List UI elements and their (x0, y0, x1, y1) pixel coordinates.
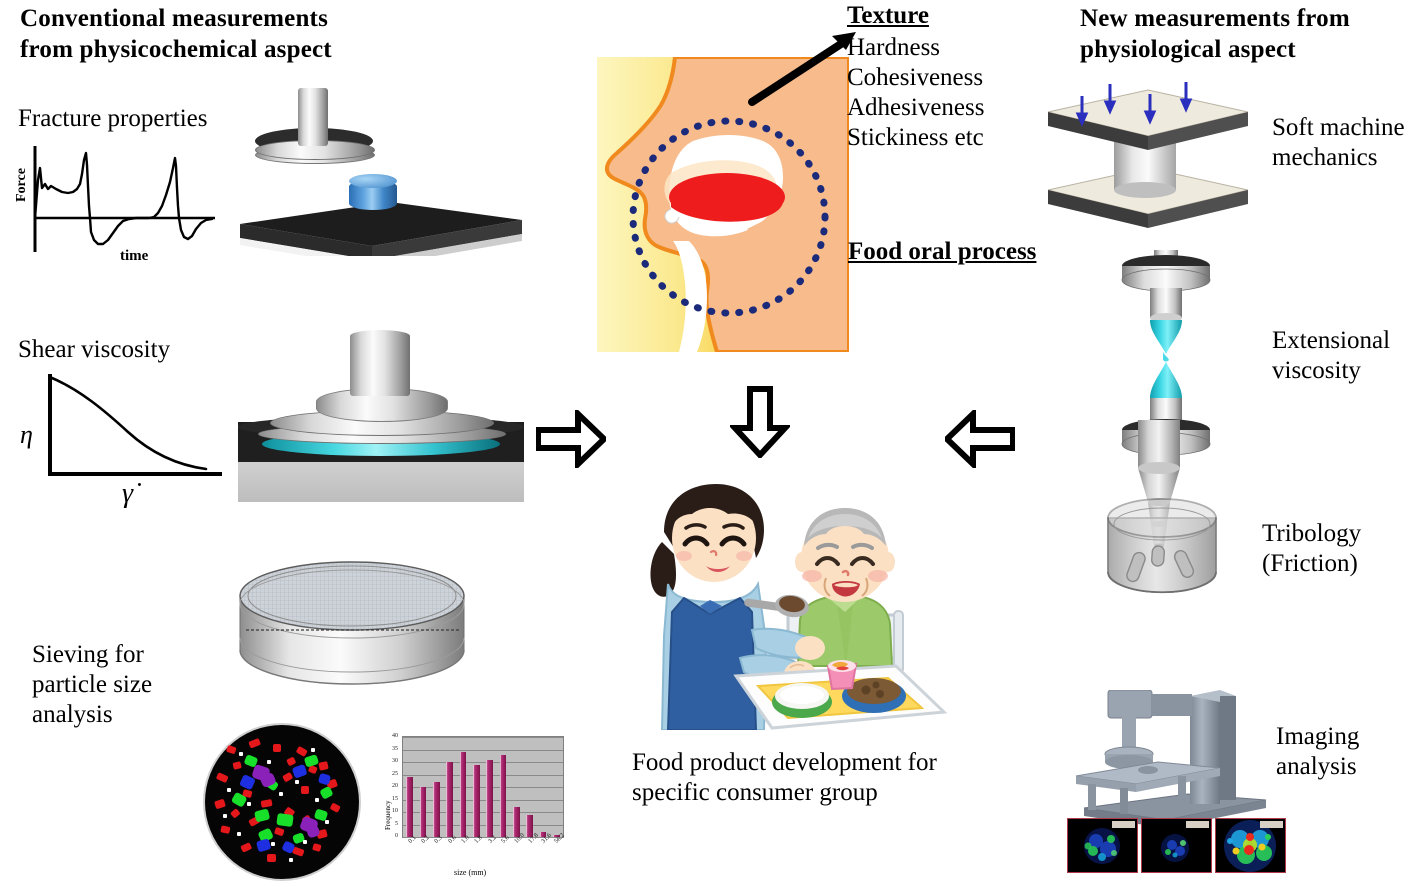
texture-attribute-item: Stickiness etc (847, 123, 984, 153)
bar-chart-bar (473, 765, 480, 838)
fracture-chart-xlabel: time (120, 248, 148, 265)
right-column-title: New measurements from physiological aspe… (1080, 4, 1410, 65)
fracture-curve (10, 140, 225, 265)
bar-chart-ytick: 35 (384, 746, 398, 752)
bar-chart-bar (406, 777, 413, 837)
test-sieve-apparatus (232, 552, 472, 702)
imaging-microscope-apparatus (1060, 690, 1290, 830)
arrow-down-icon (730, 386, 790, 458)
shear-chart-xlabel: γ̇ (122, 478, 133, 510)
bar-chart-bar (460, 752, 467, 837)
caregiver-feeding-illustration (640, 480, 960, 730)
fracture-properties-label: Fracture properties (18, 104, 208, 134)
bar-chart-bar (446, 762, 453, 837)
texture-analyzer-apparatus (232, 88, 532, 268)
shear-viscosity-chart: η γ̇ (10, 370, 225, 520)
food-oral-process-heading: Food oral process (848, 238, 1036, 266)
bar-chart-ytick: 5 (384, 821, 398, 827)
imaging-heatmap-thumbnails (1067, 818, 1282, 874)
heatmap-thumbnail (1141, 818, 1212, 873)
arrow-right-icon (536, 410, 606, 468)
particle-dish-image (197, 722, 367, 882)
bar-chart-gridline (403, 825, 563, 826)
tribology-label: Tribology (Friction) (1262, 519, 1412, 579)
fracture-properties-chart: Force time (10, 140, 225, 265)
heatmap-thumbnail (1215, 818, 1286, 873)
sieving-label: Sieving for particle size analysis (32, 640, 202, 730)
bar-chart-gridline (403, 762, 563, 763)
imaging-analysis-label: Imaging analysis (1276, 722, 1406, 782)
bar-chart-ytick: 25 (384, 771, 398, 777)
extensional-viscosity-label: Extensional viscosity (1272, 326, 1412, 386)
bar-chart-plot (402, 736, 564, 838)
texture-attribute-item: Cohesiveness (847, 63, 984, 93)
left-column-title: Conventional measurements from physicoch… (20, 4, 350, 65)
shear-curve (10, 370, 225, 500)
texture-attribute-item: Adhesiveness (847, 93, 984, 123)
bar-chart-gridline (403, 775, 563, 776)
bar-chart-bar (420, 787, 427, 837)
center-caption: Food product development for specific co… (632, 748, 992, 808)
soft-machine-mechanics-label: Soft machine mechanics (1272, 113, 1417, 173)
bar-chart-ytick: 0 (384, 833, 398, 839)
bar-chart-ytick: 30 (384, 758, 398, 764)
heatmap-thumbnail (1067, 818, 1138, 873)
bar-chart-ytick: 40 (384, 733, 398, 739)
bar-chart-bar (486, 760, 493, 838)
bar-chart-bar (433, 782, 440, 837)
tribology-apparatus (1090, 420, 1240, 650)
soft-machine-mechanics-apparatus (1040, 78, 1255, 238)
bar-chart-gridline (403, 737, 563, 738)
bar-chart-gridline (403, 750, 563, 751)
bar-chart-xlabel: size (mm) (454, 868, 486, 877)
texture-attribute-list: Hardness Cohesiveness Adhesiveness Stick… (847, 33, 984, 153)
bar-chart-gridline (403, 812, 563, 813)
texture-attribute-item: Hardness (847, 33, 984, 63)
rotational-rheometer-apparatus (234, 332, 534, 510)
bar-chart-gridline (403, 787, 563, 788)
texture-heading: Texture (847, 2, 929, 30)
bar-chart-gridline (403, 800, 563, 801)
bar-chart-ytick: 20 (384, 783, 398, 789)
texture-pointer-arrow (740, 28, 860, 108)
fracture-chart-ylabel: Force (14, 168, 30, 202)
bar-chart-bar (500, 755, 507, 838)
arrow-left-icon (945, 410, 1015, 468)
shear-chart-ylabel: η (20, 420, 33, 450)
bar-chart-ytick: 15 (384, 796, 398, 802)
shear-viscosity-label: Shear viscosity (18, 335, 170, 365)
particle-size-bar-chart: Frequency 0510152025303540 0.10.20.30.61… (376, 728, 576, 883)
bar-chart-ytick: 10 (384, 808, 398, 814)
